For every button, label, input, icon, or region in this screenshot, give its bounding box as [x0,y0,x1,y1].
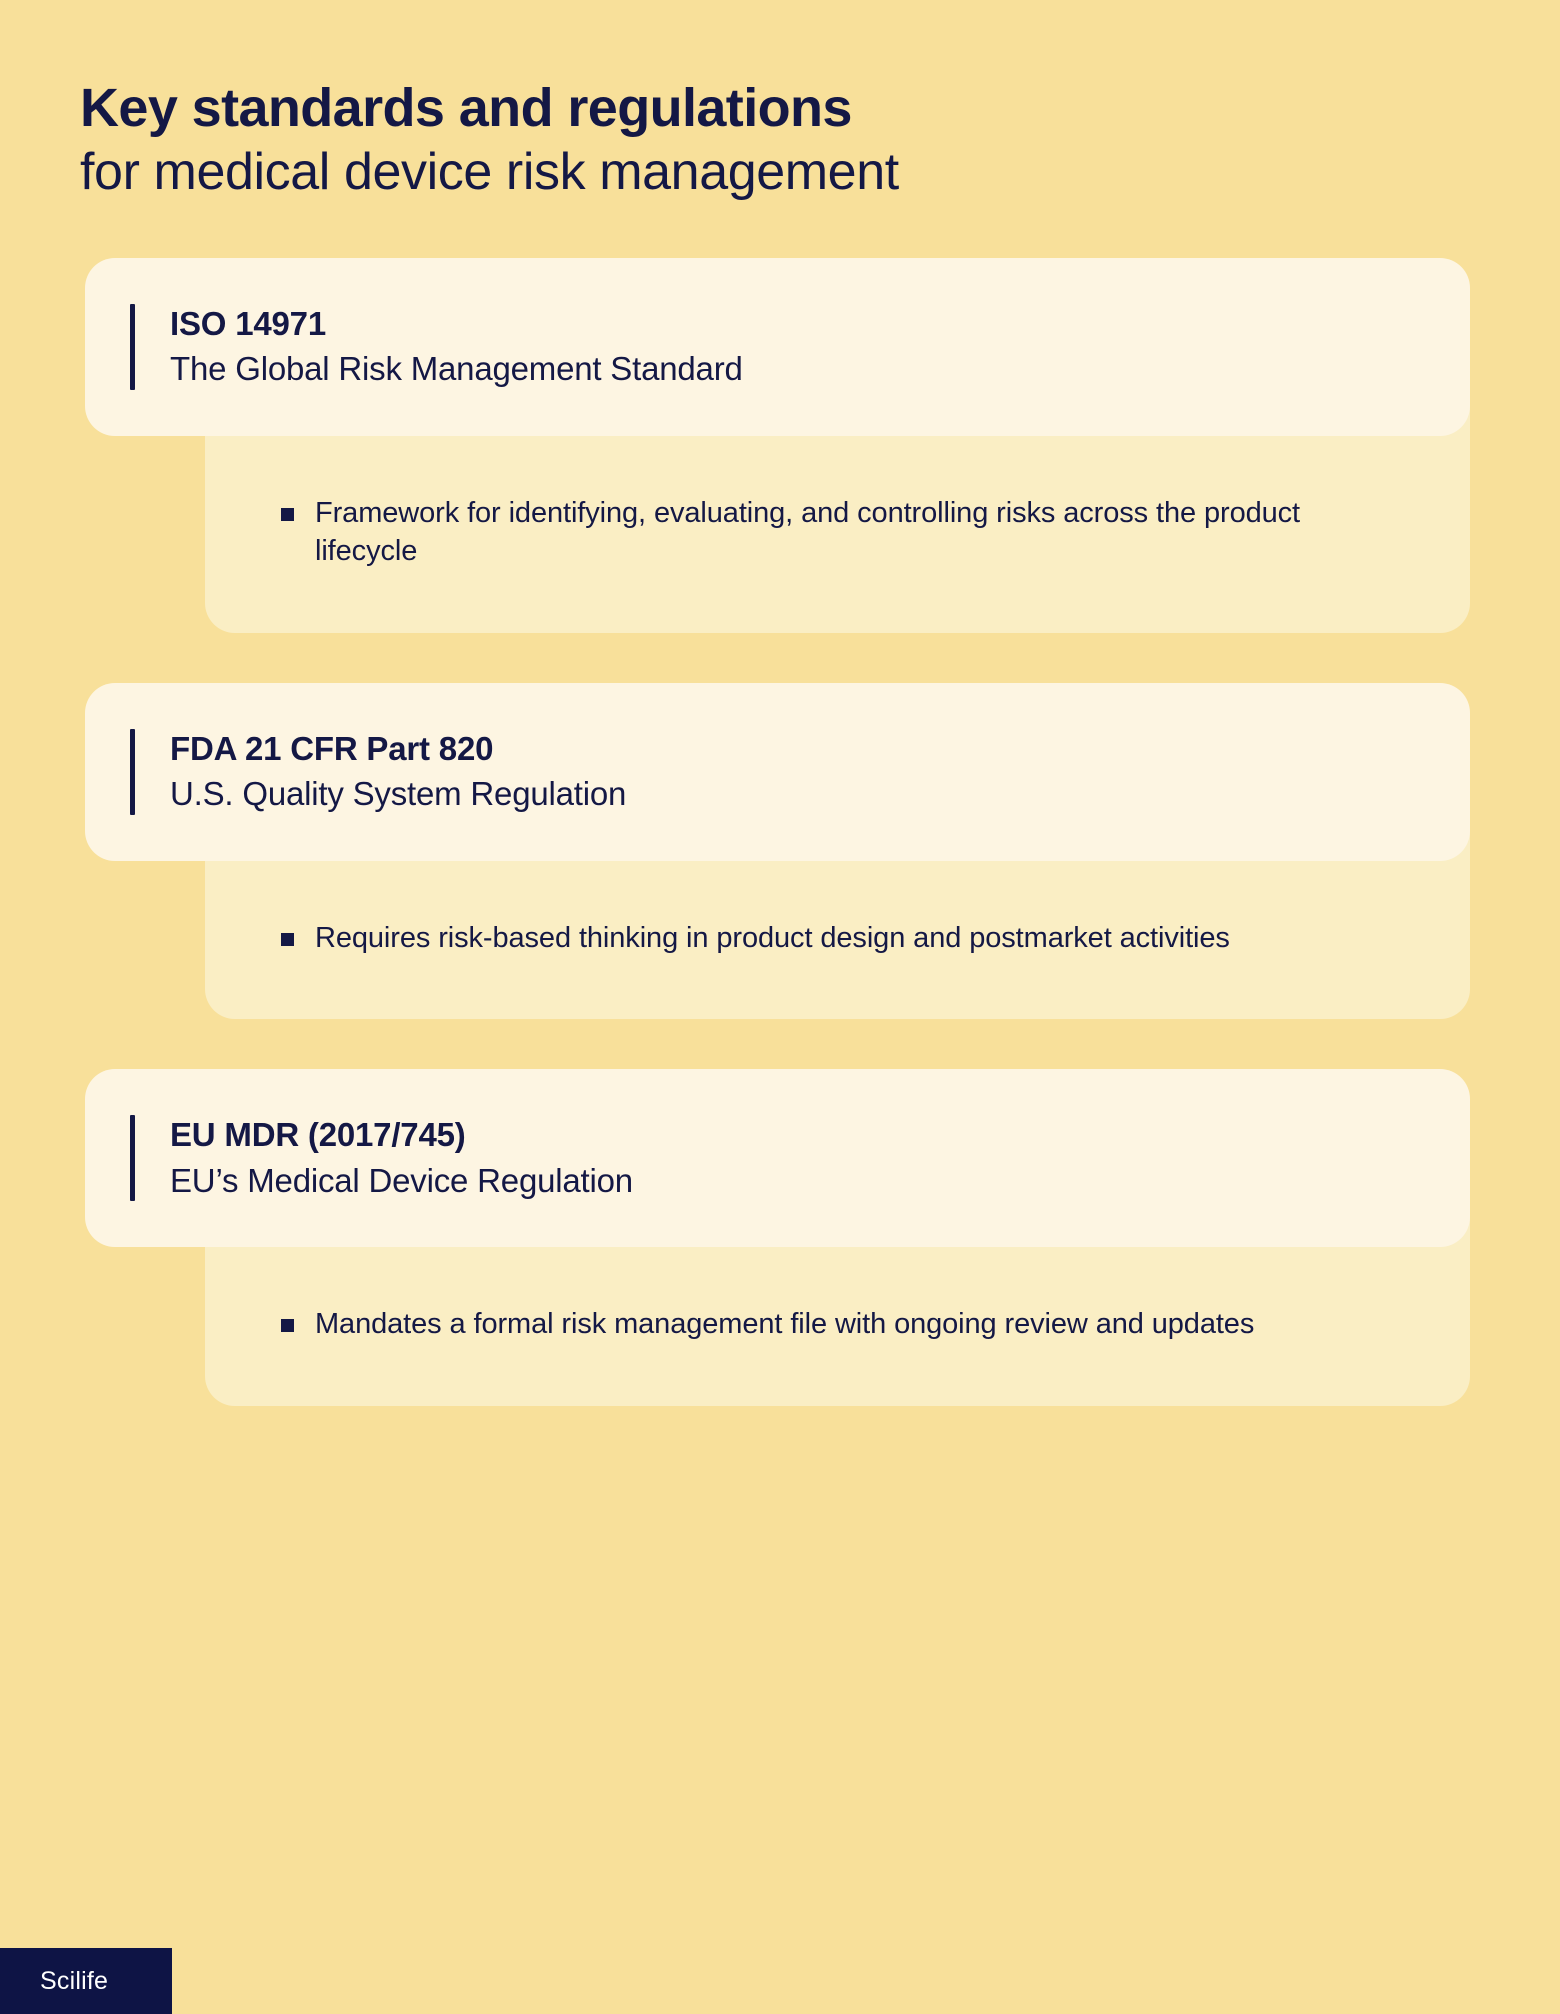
standard-card-subtitle: The Global Risk Management Standard [170,348,1410,390]
infographic-page: Key standards and regulations for medica… [0,0,1560,2014]
standard-card-subtitle: EU’s Medical Device Regulation [170,1160,1410,1202]
page-title-line1: Key standards and regulations [80,78,1400,138]
standard-card-bullet-text: Framework for identifying, evaluating, a… [315,494,1400,571]
standard-card-header: FDA 21 CFR Part 820 U.S. Quality System … [85,683,1470,861]
standard-card: ISO 14971 The Global Risk Management Sta… [0,258,1560,633]
standard-card-subtitle: U.S. Quality System Regulation [170,773,1410,815]
standard-card-header: EU MDR (2017/745) EU’s Medical Device Re… [85,1069,1470,1247]
standard-card: EU MDR (2017/745) EU’s Medical Device Re… [0,1069,1560,1405]
square-bullet-icon [281,1319,294,1332]
standard-card-header: ISO 14971 The Global Risk Management Sta… [85,258,1470,436]
accent-bar-icon [130,1115,135,1201]
standard-card-title: FDA 21 CFR Part 820 [170,729,1410,769]
square-bullet-icon [281,508,294,521]
accent-bar-icon [130,304,135,390]
standards-card-list: ISO 14971 The Global Risk Management Sta… [0,258,1560,1406]
standard-card-bullet-text: Requires risk-based thinking in product … [315,919,1400,958]
page-header: Key standards and regulations for medica… [80,78,1400,204]
standard-card-bullet-text: Mandates a formal risk management file w… [315,1305,1400,1344]
standard-card-title: ISO 14971 [170,304,1410,344]
standard-card: FDA 21 CFR Part 820 U.S. Quality System … [0,683,1560,1019]
standard-card-body: Framework for identifying, evaluating, a… [205,402,1470,633]
accent-bar-icon [130,729,135,815]
list-item: Mandates a formal risk management file w… [315,1305,1400,1344]
list-item: Framework for identifying, evaluating, a… [315,494,1400,571]
list-item: Requires risk-based thinking in product … [315,919,1400,958]
scilife-logo-label: Scilife [40,1969,108,1994]
square-bullet-icon [281,933,294,946]
standard-card-title: EU MDR (2017/745) [170,1115,1410,1155]
page-title-line2: for medical device risk management [80,142,1400,203]
scilife-logo: Scilife [0,1948,172,2014]
